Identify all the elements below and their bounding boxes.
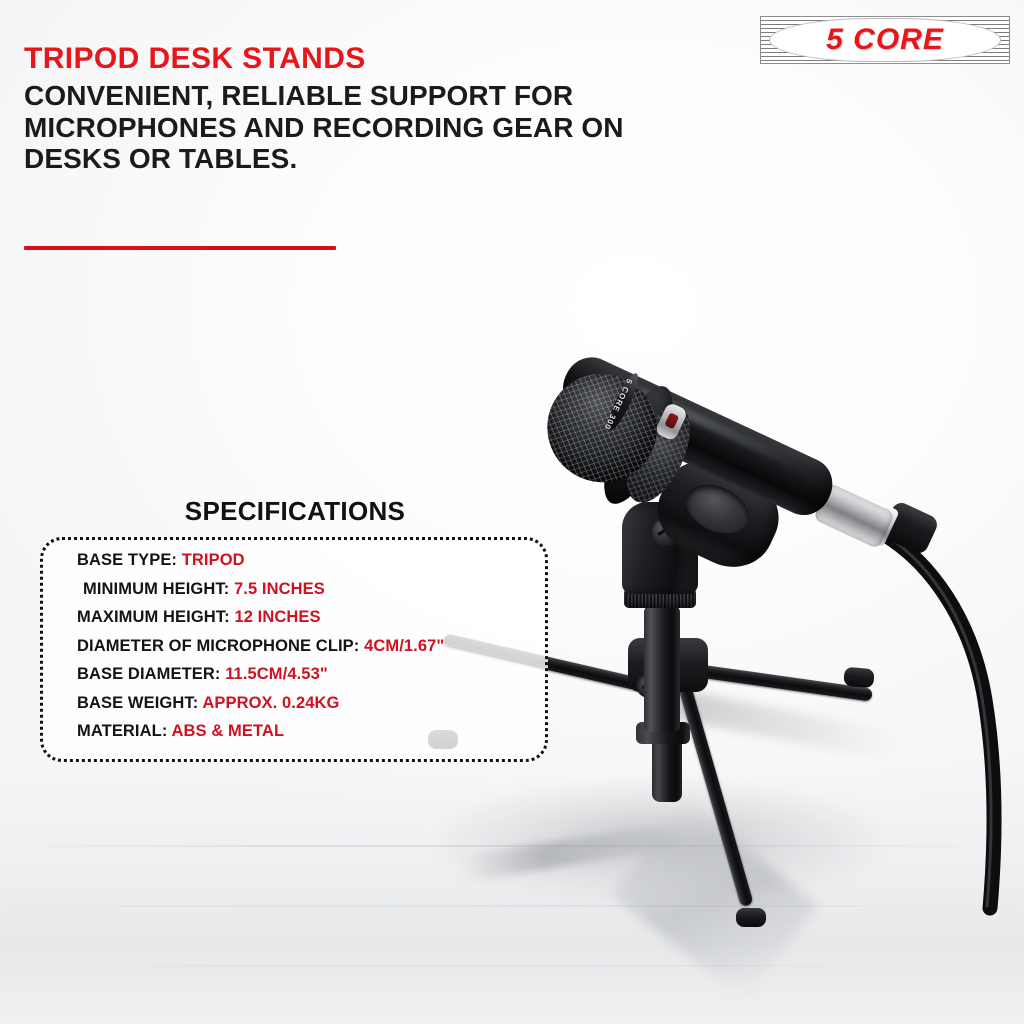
spec-row: BASE DIAMETER: 11.5CM/4.53": [77, 666, 535, 683]
spec-label: MATERIAL:: [77, 722, 167, 740]
spec-label: BASE TYPE:: [77, 551, 177, 569]
spec-value: TRIPOD: [182, 551, 245, 569]
spec-label: DIAMETER OF MICROPHONE CLIP:: [77, 637, 359, 655]
spec-row: MAXIMUM HEIGHT: 12 INCHES: [77, 609, 535, 626]
headline-block: TRIPOD DESK STANDS CONVENIENT, RELIABLE …: [24, 44, 644, 175]
spec-row: DIAMETER OF MICROPHONE CLIP: 4CM/1.67": [77, 638, 535, 655]
spec-value: 12 INCHES: [234, 608, 320, 626]
spec-row: BASE TYPE: TRIPOD: [77, 552, 535, 569]
spec-row: MINIMUM HEIGHT: 7.5 INCHES: [77, 581, 535, 598]
spec-value: 11.5CM/4.53": [225, 665, 328, 683]
tripod-foot: [736, 908, 766, 927]
page-title: TRIPOD DESK STANDS: [24, 44, 644, 74]
specifications-heading: SPECIFICATIONS: [40, 496, 550, 527]
spec-label: BASE WEIGHT:: [77, 694, 198, 712]
logo-text: 5 CORE: [760, 16, 1010, 64]
xlr-cable: [820, 490, 1024, 910]
stand-shaft-upper: [644, 606, 680, 732]
spec-label: MINIMUM HEIGHT:: [83, 580, 229, 598]
specifications-box: BASE TYPE: TRIPOD MINIMUM HEIGHT: 7.5 IN…: [40, 537, 548, 762]
spec-label: BASE DIAMETER:: [77, 665, 221, 683]
title-underline-rule: [24, 246, 336, 250]
spec-row: BASE WEIGHT: APPROX. 0.24KG: [77, 695, 535, 712]
spec-value: APPROX. 0.24KG: [202, 694, 339, 712]
product-infographic: 5 CORE TRIPOD DESK STANDS CONVENIENT, RE…: [0, 0, 1024, 1024]
spec-label: MAXIMUM HEIGHT:: [77, 608, 230, 626]
spec-value: ABS & METAL: [172, 722, 285, 740]
spec-value: 4CM/1.67": [364, 637, 444, 655]
spec-value: 7.5 INCHES: [234, 580, 325, 598]
specifications-list: BASE TYPE: TRIPOD MINIMUM HEIGHT: 7.5 IN…: [77, 552, 535, 752]
five-core-logo: 5 CORE: [760, 16, 1010, 64]
spec-row: MATERIAL: ABS & METAL: [77, 723, 535, 740]
page-subtitle: CONVENIENT, RELIABLE SUPPORT FOR MICROPH…: [24, 80, 644, 175]
stand-shaft-lower: [652, 738, 682, 802]
